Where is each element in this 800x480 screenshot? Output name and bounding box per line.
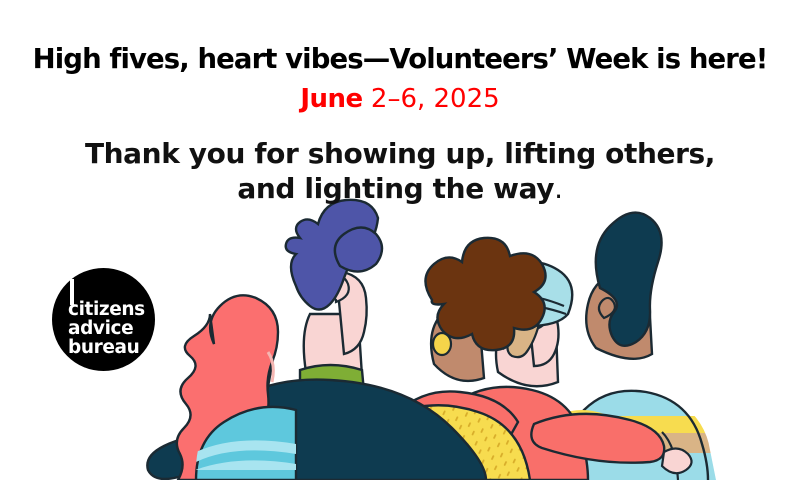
logo-line-1: citizens xyxy=(68,300,154,319)
logo-line-3: bureau xyxy=(68,338,154,357)
text-block: High fives, heart vibes—Volunteers’ Week… xyxy=(0,0,800,207)
poster-canvas: High fives, heart vibes—Volunteers’ Week… xyxy=(0,0,800,480)
citizens-advice-bureau-logo: citizens advice bureau xyxy=(52,268,155,371)
subline-line-2: and lighting the way xyxy=(237,172,554,205)
subline: Thank you for showing up, lifting others… xyxy=(0,112,800,208)
dateline-range: 2–6, 2025 xyxy=(371,84,500,114)
dateline-month: June xyxy=(300,84,362,114)
subline-line-1: Thank you for showing up, lifting others… xyxy=(85,137,715,170)
subline-period: . xyxy=(554,172,563,205)
logo-wordmark: citizens advice bureau xyxy=(68,300,154,358)
logo-line-2: advice xyxy=(68,319,154,338)
dateline: June 2–6, 2025 xyxy=(0,74,800,112)
headline: High fives, heart vibes—Volunteers’ Week… xyxy=(0,0,800,74)
